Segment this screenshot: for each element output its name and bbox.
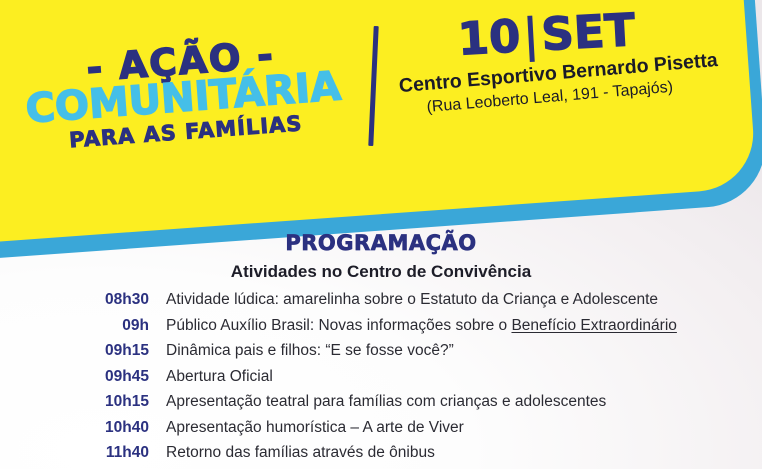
event-flyer: - AÇÃO - COMUNITÁRIA PARA AS FAMÍLIAS 10… bbox=[0, 0, 762, 469]
date-venue-block: 10|SET Centro Esportivo Bernardo Pisetta… bbox=[395, 4, 700, 115]
schedule-row: 10h40Apresentação humorística – A arte d… bbox=[86, 419, 706, 445]
schedule-time: 09h45 bbox=[86, 368, 149, 386]
schedule-row: 09h45Abertura Oficial bbox=[86, 368, 706, 394]
schedule-time: 08h30 bbox=[86, 291, 149, 309]
schedule-description: Público Auxílio Brasil: Novas informaçõe… bbox=[166, 317, 677, 335]
schedule-description-text: Dinâmica pais e filhos: “E se fosse você… bbox=[166, 342, 454, 359]
programme-subheading: Atividades no Centro de Convivência bbox=[0, 262, 762, 282]
schedule-description: Dinâmica pais e filhos: “E se fosse você… bbox=[166, 342, 454, 360]
schedule-row: 11h40Retorno das famílias através de ôni… bbox=[86, 444, 706, 469]
schedule-description-highlight: Benefício Extraordinário bbox=[511, 317, 676, 334]
schedule-list: 08h30Atividade lúdica: amarelinha sobre … bbox=[86, 291, 706, 469]
schedule-time: 09h15 bbox=[86, 342, 149, 360]
schedule-row: 09h15Dinâmica pais e filhos: “E se fosse… bbox=[86, 342, 706, 368]
schedule-time: 11h40 bbox=[86, 444, 149, 462]
schedule-description-text: Apresentação humorística – A arte de Viv… bbox=[166, 419, 464, 436]
schedule-row: 08h30Atividade lúdica: amarelinha sobre … bbox=[86, 291, 706, 317]
schedule-description: Abertura Oficial bbox=[166, 368, 273, 386]
schedule-description-text: Atividade lúdica: amarelinha sobre o Est… bbox=[166, 291, 658, 308]
schedule-time: 10h15 bbox=[86, 393, 149, 411]
schedule-description: Atividade lúdica: amarelinha sobre o Est… bbox=[166, 291, 658, 309]
schedule-time: 10h40 bbox=[86, 419, 149, 437]
schedule-description-text: Retorno das famílias através de ônibus bbox=[166, 444, 435, 461]
schedule-description-text: Público Auxílio Brasil: Novas informaçõe… bbox=[166, 317, 511, 334]
event-date-month: SET bbox=[540, 3, 637, 61]
date-separator: | bbox=[519, 8, 543, 62]
schedule-description: Retorno das famílias através de ônibus bbox=[166, 444, 435, 462]
schedule-description-text: Apresentação teatral para famílias com c… bbox=[166, 393, 606, 410]
schedule-description: Apresentação teatral para famílias com c… bbox=[166, 393, 606, 411]
schedule-row: 09hPúblico Auxílio Brasil: Novas informa… bbox=[86, 317, 706, 343]
schedule-description: Apresentação humorística – A arte de Viv… bbox=[166, 419, 464, 437]
programme-heading: PROGRAMAÇÃO bbox=[0, 231, 762, 255]
schedule-row: 10h15Apresentação teatral para famílias … bbox=[86, 393, 706, 419]
schedule-description-text: Abertura Oficial bbox=[166, 368, 273, 385]
event-date-day: 10 bbox=[456, 9, 521, 65]
schedule-time: 09h bbox=[86, 317, 149, 335]
